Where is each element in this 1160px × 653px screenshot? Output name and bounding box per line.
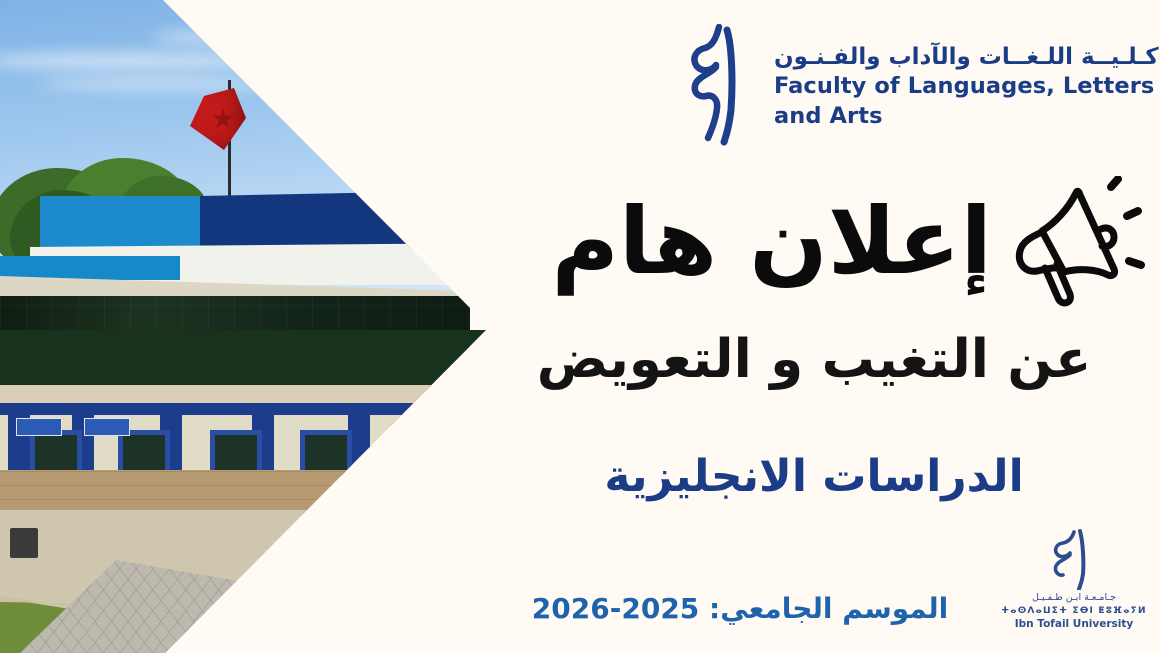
roof-fascia-light-lower <box>0 256 180 280</box>
faculty-building-photo <box>0 0 500 653</box>
cloud <box>150 30 330 44</box>
trash-bin <box>10 528 38 558</box>
university-name-tifinagh: ⵜⴰⵙⴷⴰⵡⵉⵜ ⵉⴱⵏ ⵟⵓⴼⴰⵢⵍ <box>1001 605 1147 617</box>
faculty-calligraphy-mark <box>686 24 758 146</box>
ibn-tofail-calligraphy-mark <box>1047 528 1101 590</box>
university-name-arabic: جـامـعـة ابـن طـفـيـل <box>1001 592 1147 605</box>
department-name: الدراسات الانجليزية <box>480 452 1148 501</box>
university-name-english: Ibn Tofail University <box>1001 617 1147 631</box>
wall-sign <box>84 418 130 436</box>
faculty-logo: كـلـيــة اللـغــات والآداب والفـنـون Fac… <box>686 24 1134 150</box>
wing-shadow <box>0 330 500 390</box>
roof-fascia-dark <box>200 190 500 252</box>
faculty-logo-text: كـلـيــة اللـغــات والآداب والفـنـون Fac… <box>774 24 1159 130</box>
academic-year: الموسم الجامعي: 2025-2026 <box>470 592 1010 626</box>
faculty-name-arabic: كـلـيــة اللـغــات والآداب والفـنـون <box>774 44 1159 70</box>
roof-fascia-light <box>40 196 220 248</box>
window <box>390 430 442 476</box>
announcement-poster: كـلـيــة اللـغــات والآداب والفـنـون Fac… <box>0 0 1160 653</box>
page-title: إعلان هام <box>551 194 992 291</box>
megaphone-icon <box>998 176 1148 308</box>
stone-base-texture <box>0 470 500 514</box>
university-logo-text: جـامـعـة ابـن طـفـيـل ⵜⴰⵙⴷⴰⵡⵉⵜ ⵉⴱⵏ ⵟⵓⴼⴰⵢ… <box>1001 592 1147 631</box>
faculty-name-english-line2: and Arts <box>774 103 1159 130</box>
faculty-name-english-line1: Faculty of Languages, Letters <box>774 73 1159 100</box>
cloud <box>0 52 280 70</box>
wall-sign <box>16 418 62 436</box>
subtitle: عن التغيب و التعويض <box>480 330 1148 389</box>
pillar <box>444 415 466 487</box>
cloud <box>40 78 280 90</box>
headline-row: إعلان هام <box>498 176 1148 308</box>
university-logo: جـامـعـة ابـن طـفـيـل ⵜⴰⵙⴷⴰⵡⵉⵜ ⵉⴱⵏ ⵟⵓⴼⴰⵢ… <box>1008 528 1140 640</box>
